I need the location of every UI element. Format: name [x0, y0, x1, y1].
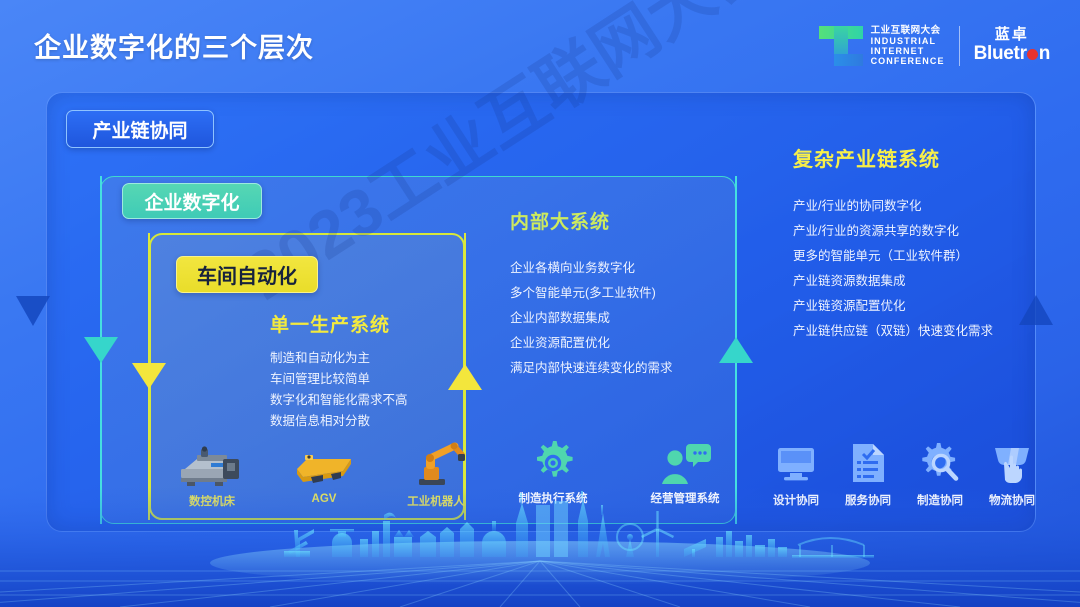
list-item: 企业各横向业务数字化: [510, 256, 673, 281]
column-internal-big-system: 内部大系统 企业各横向业务数字化 多个智能单元(多工业软件) 企业内部数据集成 …: [510, 207, 673, 381]
arrow-down-yellow-left-icon: [132, 363, 166, 389]
list-item: 制造和自动化为主: [270, 348, 408, 369]
column-item-list: 企业各横向业务数字化 多个智能单元(多工业软件) 企业内部数据集成 企业资源配置…: [510, 256, 673, 381]
icon-label: 设计协同: [773, 492, 819, 508]
list-item: 多个智能单元(多工业软件): [510, 281, 673, 306]
list-item: 数字化和智能化需求不高: [270, 390, 408, 411]
icon-label: 工业机器人: [407, 493, 465, 509]
column-item-list: 制造和自动化为主 车间管理比较简单 数字化和智能化需求不高 数据信息相对分散: [270, 348, 408, 432]
tier-chip-industry-chain[interactable]: 产业链协同: [66, 110, 214, 148]
list-item: 产业/行业的资源共享的数字化: [793, 219, 993, 244]
list-item: 满足内部快速连续变化的需求: [510, 356, 673, 381]
list-item: 产业链供应链（双链）快速变化需求: [793, 319, 993, 344]
conference-name-en-line3: CONFERENCE: [871, 56, 945, 66]
column-item-list: 产业/行业的协同数字化 产业/行业的资源共享的数字化 更多的智能单元（工业软件群…: [793, 194, 993, 344]
list-item: 企业资源配置优化: [510, 331, 673, 356]
icon-label: 数控机床: [189, 493, 235, 509]
column-complex-chain-system: 复杂产业链系统 产业/行业的协同数字化 产业/行业的资源共享的数字化 更多的智能…: [793, 143, 993, 344]
icon-cell-industrial-robot[interactable]: 工业机器人: [400, 443, 472, 509]
icon-label: 服务协同: [845, 492, 891, 508]
list-item: 企业内部数据集成: [510, 306, 673, 331]
icon-row-systems: 制造执行系统 经营管理系统: [508, 440, 730, 506]
arrow-down-outer-left-icon: [16, 296, 50, 326]
icon-label: 物流协同: [989, 492, 1035, 508]
logo-block: 工业互联网大会 INDUSTRIAL INTERNET CONFERENCE 蓝…: [819, 24, 1050, 68]
cnc-machine-icon: [177, 443, 247, 487]
icon-row-collaboration: 设计协同 服务协同 制造协: [770, 440, 1038, 508]
arrow-up-outer-right-icon: [1019, 295, 1053, 325]
checklist-document-icon: [849, 440, 887, 486]
brand-name-en: Bluetrn: [974, 44, 1050, 65]
brand-logo: 蓝卓 Bluetrn: [974, 27, 1050, 64]
arrow-up-cyan-right-icon: [719, 337, 753, 363]
icon-cell-agv[interactable]: AGV: [288, 443, 360, 509]
conference-t-mark-icon: [819, 24, 863, 68]
conference-logo-text: 工业互联网大会 INDUSTRIAL INTERNET CONFERENCE: [871, 26, 945, 67]
column-heading: 内部大系统: [510, 207, 673, 234]
list-item: 产业链资源数据集成: [793, 269, 993, 294]
icon-cell-logistics-collab[interactable]: 物流协同: [986, 440, 1038, 508]
icon-cell-manufacturing-collab[interactable]: 制造协同: [914, 440, 966, 508]
icon-label: AGV: [312, 493, 337, 505]
list-item: 车间管理比较简单: [270, 369, 408, 390]
icon-cell-service-collab[interactable]: 服务协同: [842, 440, 894, 508]
conference-name-en-line1: INDUSTRIAL: [871, 36, 945, 46]
person-chat-icon: [659, 440, 711, 486]
arrow-up-yellow-right-icon: [448, 364, 482, 390]
list-item: 数据信息相对分散: [270, 411, 408, 432]
logo-divider: [959, 26, 960, 66]
conference-logo: 工业互联网大会 INDUSTRIAL INTERNET CONFERENCE: [819, 24, 945, 68]
conference-name-cn: 工业互联网大会: [871, 26, 945, 37]
gear-icon: [530, 440, 576, 486]
conference-name-en-line2: INTERNET: [871, 46, 945, 56]
brand-en-left: Bluetr: [974, 43, 1027, 64]
icon-label: 制造协同: [917, 492, 963, 508]
brand-name-cn: 蓝卓: [974, 27, 1050, 44]
arrow-down-cyan-left-icon: [84, 337, 118, 363]
icon-label: 经营管理系统: [651, 490, 720, 506]
icon-row-machines: 数控机床 AGV: [176, 443, 472, 509]
list-item: 产业/行业的协同数字化: [793, 194, 993, 219]
monitor-icon: [776, 440, 816, 486]
page-title: 企业数字化的三个层次: [34, 26, 314, 65]
icon-cell-cnc-machine[interactable]: 数控机床: [176, 443, 248, 509]
icon-label: 制造执行系统: [519, 490, 588, 506]
gear-search-icon: [919, 440, 961, 486]
brand-o-dot-icon: [1027, 49, 1038, 60]
brand-en-right: n: [1039, 43, 1050, 64]
tier-chip-enterprise-digital[interactable]: 企业数字化: [122, 183, 262, 219]
icon-cell-business-management[interactable]: 经营管理系统: [640, 440, 730, 506]
column-heading: 单一生产系统: [270, 310, 408, 337]
agv-vehicle-icon: [293, 443, 355, 487]
delivery-hand-icon: [991, 440, 1033, 486]
column-single-production: 单一生产系统 制造和自动化为主 车间管理比较简单 数字化和智能化需求不高 数据信…: [270, 310, 408, 432]
list-item: 产业链资源配置优化: [793, 294, 993, 319]
tier-chip-workshop-automation[interactable]: 车间自动化: [176, 256, 318, 293]
icon-cell-manufacturing-execution[interactable]: 制造执行系统: [508, 440, 598, 506]
icon-cell-design-collab[interactable]: 设计协同: [770, 440, 822, 508]
list-item: 更多的智能单元（工业软件群）: [793, 244, 993, 269]
industrial-robot-icon: [405, 443, 467, 487]
column-heading: 复杂产业链系统: [793, 143, 993, 172]
